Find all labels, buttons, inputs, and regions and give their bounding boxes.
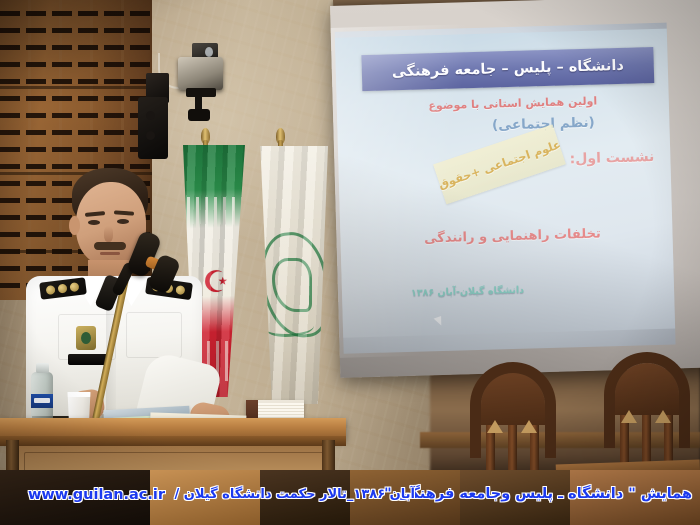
slide-session-label: نشست اول: — [569, 149, 654, 167]
slide-title: دانشگاه – پلیس – جامعه فرهنگی — [392, 58, 624, 80]
cursor-arrow-icon — [434, 316, 445, 327]
slide-stamp-text: علوم اجتماعی +حقوق — [436, 137, 562, 191]
caption-date-venue: آبان ۱۳۸۶_تالار حکمت دانشگاه گیلان / — [175, 487, 415, 502]
caption-text-row: همایش " دانشگاه ـ پلیس وجامعه فرهنگی " آ… — [0, 470, 700, 525]
chair-back-arch — [604, 352, 690, 448]
presentation-slide: دانشگاه – پلیس – جامعه فرهنگی اولین همای… — [335, 29, 675, 338]
speaker-ear — [69, 216, 80, 235]
uniform-badge-icon — [76, 326, 96, 350]
slide-footer: دانشگاه گیلان-آبان ۱۳۸۶ — [411, 285, 524, 299]
podium-edge — [0, 436, 346, 446]
cup-rim — [66, 392, 92, 397]
screen-surface: دانشگاه – پلیس – جامعه فرهنگی اولین همای… — [335, 23, 676, 354]
uniform-pocket-right — [126, 312, 182, 358]
speaker-eye-left — [88, 220, 100, 225]
slide-title-bar: دانشگاه – پلیس – جامعه فرهنگی — [361, 47, 654, 91]
wall-mounted-projector — [150, 35, 230, 130]
wall-speaker-lower — [138, 97, 168, 159]
speaker-eye-right — [117, 219, 129, 224]
projector-body — [178, 57, 223, 90]
caption-bar: همایش " دانشگاه ـ پلیس وجامعه فرهنگی " آ… — [0, 470, 700, 525]
speaker-mustache — [94, 242, 126, 250]
caption-website-url[interactable]: www.guilan.ac.ir — [28, 487, 165, 503]
projector-mount — [188, 109, 210, 121]
speaker-mouth — [100, 252, 120, 255]
caption-event-title: همایش " دانشگاه ـ پلیس وجامعه فرهنگی " — [384, 486, 692, 502]
bottle-label — [31, 394, 53, 408]
slide-subtitle: اولین همایش استانی با موضوع — [383, 93, 643, 113]
slide-stamp-box: علوم اجتماعی +حقوق — [433, 124, 566, 204]
chair-back-arch — [470, 362, 556, 458]
bottle-cap — [36, 363, 49, 373]
slide-session-item: تخلفات راهنمایی و رانندگی — [382, 225, 642, 247]
conference-photo: دانشگاه – پلیس – جامعه فرهنگی اولین همای… — [0, 0, 700, 525]
speaker-nose — [104, 226, 113, 242]
projection-screen: دانشگاه – پلیس – جامعه فرهنگی اولین همای… — [330, 0, 700, 378]
